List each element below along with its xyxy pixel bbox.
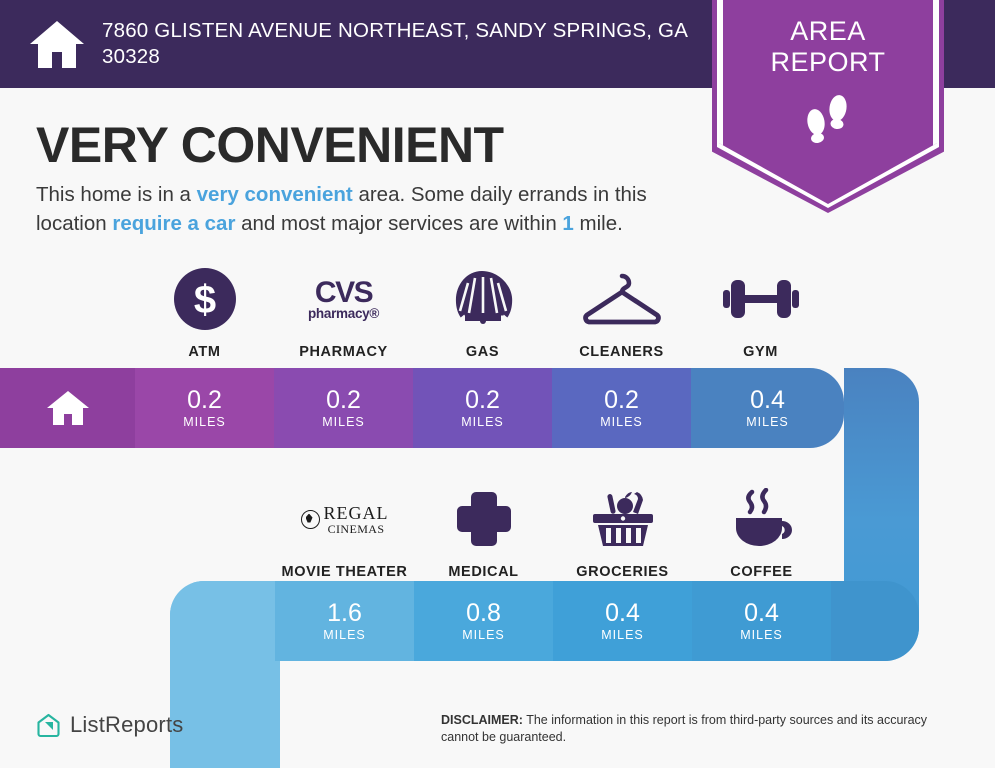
cvs-pharmacy-logo: CVS pharmacy® [308, 278, 379, 321]
amenity-movie-theater: REGAL CINEMAS MOVIE THEATER [275, 480, 414, 580]
distance-unit: MILES [740, 628, 783, 642]
regal-cinemas-logo: REGAL CINEMAS [301, 504, 389, 535]
distance-unit: MILES [322, 415, 365, 429]
row1-distance-bar: 0.2 MILES 0.2 MILES 0.2 MILES 0.2 MILES … [0, 368, 844, 448]
subtitle-part-4: mile. [574, 212, 623, 235]
grocery-basket-icon [589, 488, 657, 550]
pharmacy-icon-art: CVS pharmacy® [308, 268, 379, 330]
movie-theater-icon-art: REGAL CINEMAS [301, 488, 389, 550]
property-address: 7860 GLISTEN AVENUE NORTHEAST, SANDY SPR… [102, 18, 702, 70]
row1-distance-cell: 0.2 MILES [413, 368, 552, 448]
amenity-groceries: GROCERIES [553, 480, 692, 580]
brand-name: ListReports [70, 712, 183, 738]
badge-line-2: REPORT [712, 47, 944, 78]
row2-distance-cell: 1.6 MILES [275, 581, 414, 661]
distance-value: 0.4 [750, 387, 785, 414]
listreports-house-icon [36, 713, 61, 738]
subtitle-highlight-1: very convenient [197, 183, 353, 206]
distance-unit: MILES [746, 415, 789, 429]
regal-word-2: CINEMAS [324, 523, 389, 535]
distance-unit: MILES [183, 415, 226, 429]
cvs-wordmark: CVS [308, 278, 379, 308]
amenity-coffee: COFFEE [692, 480, 831, 580]
amenity-cleaners: CLEANERS [552, 265, 691, 360]
disclaimer: DISCLAIMER: The information in this repo… [441, 712, 961, 746]
regal-emblem-icon [301, 510, 320, 529]
header-address-block: 7860 GLISTEN AVENUE NORTHEAST, SANDY SPR… [0, 0, 712, 88]
subtitle-highlight-2: require a car [112, 212, 235, 235]
footprints-icon [802, 92, 854, 148]
row2-distance-cell: 0.8 MILES [414, 581, 553, 661]
coffee-icon-art [728, 488, 796, 550]
coffee-cup-icon [728, 488, 796, 550]
distance-value: 0.2 [465, 387, 500, 414]
amenity-gas: GAS [413, 265, 552, 360]
distance-unit: MILES [461, 415, 504, 429]
groceries-icon-art [589, 488, 657, 550]
home-icon [46, 389, 90, 427]
home-icon [28, 18, 86, 70]
distance-value: 0.2 [187, 387, 222, 414]
amenity-label: CLEANERS [579, 344, 664, 360]
row2-distance-bar: 1.6 MILES 0.8 MILES 0.4 MILES 0.4 MILES [170, 581, 919, 661]
row2-lead-cell [170, 581, 275, 661]
gym-icon-art [721, 268, 801, 330]
distance-value: 1.6 [327, 600, 362, 627]
distance-value: 0.2 [326, 387, 361, 414]
amenity-label: GROCERIES [576, 564, 668, 580]
gas-icon-art [453, 268, 513, 330]
distance-unit: MILES [600, 415, 643, 429]
amenity-gym: GYM [691, 265, 830, 360]
atm-icon-art: $ [174, 268, 236, 330]
row2-distance-cell: 0.4 MILES [553, 581, 692, 661]
amenity-label: COFFEE [730, 564, 792, 580]
amenity-label: ATM [188, 344, 220, 360]
distance-unit: MILES [601, 628, 644, 642]
amenity-atm: $ ATM [135, 265, 274, 360]
row1-distance-cell: 0.2 MILES [274, 368, 413, 448]
row1-distance-cell: 0.4 MILES [691, 368, 844, 448]
svg-text:$: $ [193, 278, 215, 322]
amenity-label: PHARMACY [299, 344, 388, 360]
row2-tail-cell [831, 581, 919, 661]
subtitle-part-1: This home is in a [36, 183, 197, 206]
amenity-label: GYM [743, 344, 778, 360]
subtitle-part-3: and most major services are within [235, 212, 562, 235]
page-subtitle: This home is in a very convenient area. … [36, 180, 708, 238]
amenity-label: MOVIE THEATER [282, 564, 408, 580]
distance-value: 0.2 [604, 387, 639, 414]
row2-icon-row: REGAL CINEMAS MOVIE THEATER MEDICAL [275, 480, 844, 580]
dollar-circle-icon: $ [174, 268, 236, 330]
medical-icon-art [455, 488, 513, 550]
dumbbell-icon [721, 272, 801, 326]
area-report-badge: AREA REPORT [712, 0, 944, 213]
row2-distance-cell: 0.4 MILES [692, 581, 831, 661]
area-report-page: 7860 GLISTEN AVENUE NORTHEAST, SANDY SPR… [0, 0, 995, 768]
hanger-icon [579, 270, 665, 328]
distance-unit: MILES [323, 628, 366, 642]
regal-word-1: REGAL [324, 504, 389, 522]
badge-text: AREA REPORT [712, 16, 944, 78]
distance-value: 0.4 [605, 600, 640, 627]
row1-distance-cell: 0.2 MILES [552, 368, 691, 448]
subtitle-highlight-3: 1 [562, 212, 573, 235]
distance-value: 0.4 [744, 600, 779, 627]
amenity-label: GAS [466, 344, 499, 360]
cvs-subwordmark: pharmacy® [308, 307, 379, 321]
listreports-brand: ListReports [36, 712, 183, 738]
medical-cross-icon [455, 490, 513, 548]
amenity-label: MEDICAL [448, 564, 518, 580]
badge-line-1: AREA [712, 16, 944, 47]
amenity-pharmacy: CVS pharmacy® PHARMACY [274, 265, 413, 360]
disclaimer-label: DISCLAIMER: [441, 713, 523, 727]
amenity-medical: MEDICAL [414, 480, 553, 580]
page-title: VERY CONVENIENT [36, 116, 504, 174]
distance-unit: MILES [462, 628, 505, 642]
shell-scallop-icon [453, 269, 513, 329]
distance-value: 0.8 [466, 600, 501, 627]
row1-home-cell [0, 368, 135, 448]
cleaners-icon-art [579, 268, 665, 330]
row1-icon-row: $ ATM CVS pharmacy® PHARMACY [135, 265, 844, 360]
row1-distance-cell: 0.2 MILES [135, 368, 274, 448]
regal-wordmark: REGAL CINEMAS [324, 504, 389, 535]
